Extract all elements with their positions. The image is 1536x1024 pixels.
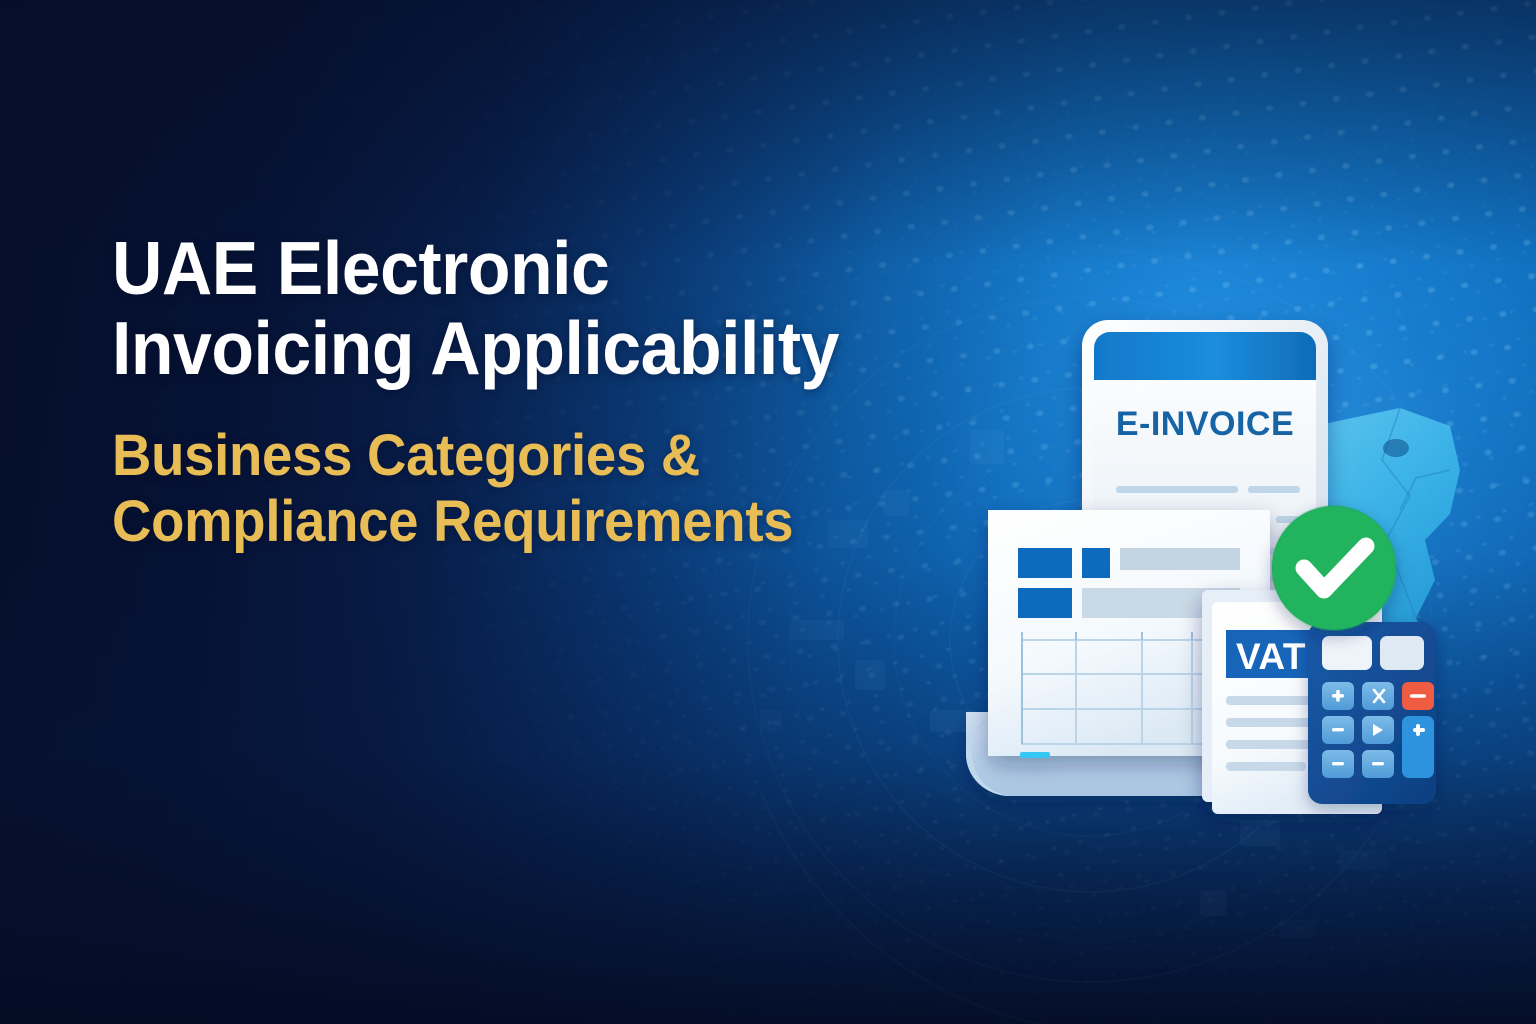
device-header-bar bbox=[1094, 332, 1316, 380]
calculator-keys bbox=[1322, 682, 1434, 778]
vat-label: VAT bbox=[1236, 636, 1306, 677]
page-title-line-1: UAE Electronic bbox=[112, 228, 875, 308]
page-title-line-2: Invoicing Applicability bbox=[112, 308, 875, 388]
page-subtitle-line-1: Business Categories & bbox=[112, 423, 883, 489]
page-subtitle: Business Categories & Compliance Require… bbox=[112, 423, 883, 555]
calculator-display-left bbox=[1322, 636, 1372, 670]
einvoice-label: E-INVOICE bbox=[1116, 405, 1294, 443]
verified-check-badge bbox=[1272, 506, 1396, 630]
promo-banner: UAE Electronic Invoicing Applicability B… bbox=[0, 0, 1536, 1024]
einvoice-illustration: E-INVOICE bbox=[930, 300, 1460, 860]
sheet-accent-bar bbox=[1020, 752, 1050, 758]
calculator bbox=[1308, 622, 1436, 804]
headline-block: UAE Electronic Invoicing Applicability B… bbox=[112, 228, 932, 555]
page-subtitle-line-2: Compliance Requirements bbox=[112, 489, 883, 555]
calculator-display-right bbox=[1380, 636, 1424, 670]
page-title: UAE Electronic Invoicing Applicability bbox=[112, 228, 875, 389]
